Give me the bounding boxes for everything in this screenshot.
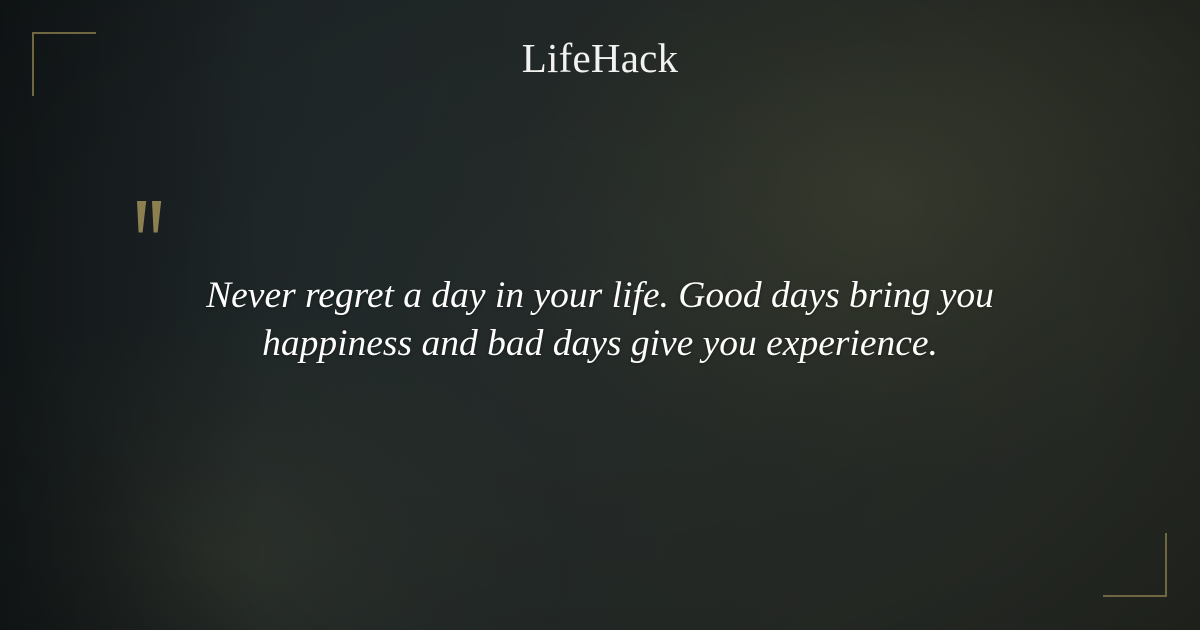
quote-block: Never regret a day in your life. Good da…: [100, 272, 1100, 368]
quote-line-2: happiness and bad days give you experien…: [100, 320, 1100, 368]
quote-card: LifeHack Never regret a day in your life…: [0, 0, 1200, 630]
quote-line-1: Never regret a day in your life. Good da…: [100, 272, 1100, 320]
brand-logo: LifeHack: [0, 38, 1200, 79]
double-quote-icon: [131, 200, 175, 242]
